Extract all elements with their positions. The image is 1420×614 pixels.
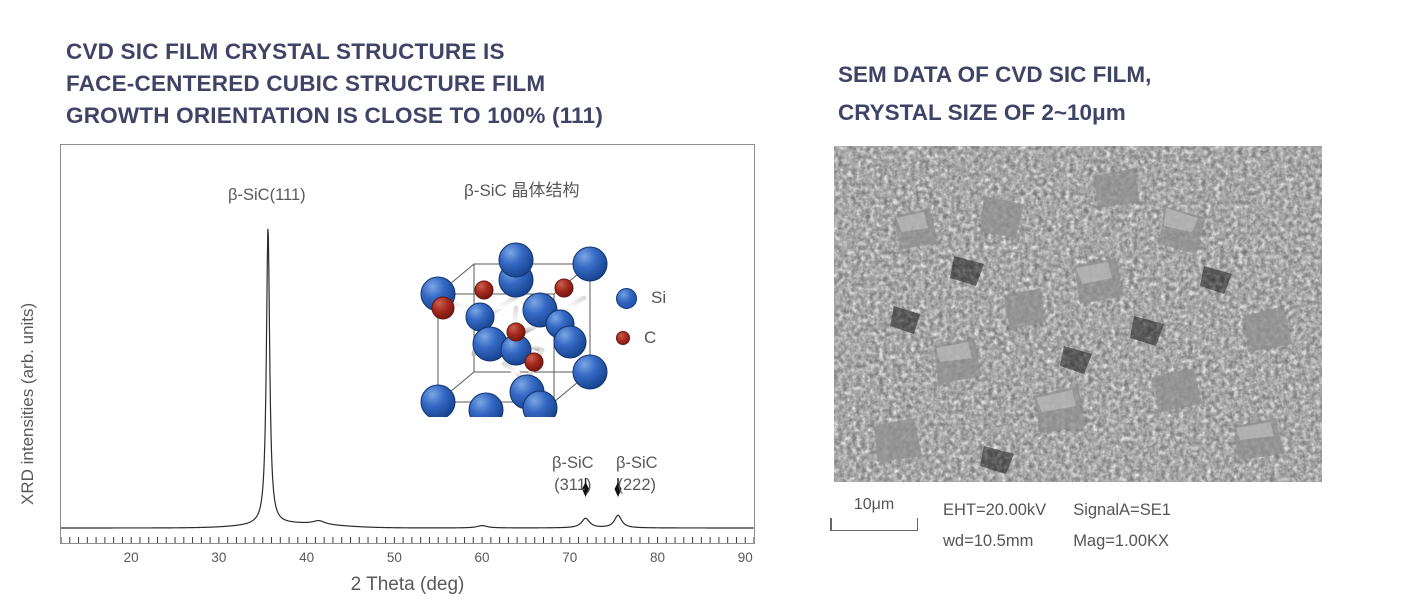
x-tick-label: 30 <box>211 550 226 565</box>
legend-label-si: Si <box>651 288 666 308</box>
legend-item-si: Si <box>616 278 666 318</box>
legend-label-c: C <box>644 328 656 348</box>
sem-scale-bar: 10μm <box>830 496 918 531</box>
peak-annotation-111: β-SiC(111) <box>228 186 306 205</box>
legend-item-c: C <box>616 318 666 358</box>
x-axis-ticks <box>61 537 754 543</box>
sem-eht: EHT=20.00kV <box>942 496 1070 525</box>
x-tick-label: 80 <box>650 550 665 565</box>
x-tick-label: 20 <box>124 550 139 565</box>
sem-metadata-table: EHT=20.00kV SignalA=SE1 wd=10.5mm Mag=1.… <box>940 494 1197 558</box>
y-axis-label: XRD intensities (arb. units) <box>18 477 38 505</box>
peak-annotation-222: β-SiC (222) <box>616 452 658 496</box>
x-tick-label: 50 <box>387 550 402 565</box>
si-sphere-icon <box>616 288 637 309</box>
table-row: EHT=20.00kV SignalA=SE1 <box>942 496 1195 525</box>
x-tick-label: 90 <box>738 550 753 565</box>
x-axis-label: 2 Theta (deg) <box>60 574 755 596</box>
sem-mag: Mag=1.00KX <box>1072 527 1195 556</box>
right-panel-title: SEM DATA OF CVD SIC FILM, CRYSTAL SIZE O… <box>838 56 1378 132</box>
x-tick-label: 40 <box>299 550 314 565</box>
crystal-legend: Si C <box>616 278 666 358</box>
sem-micrograph <box>834 146 1322 482</box>
crystal-structure-caption: β-SiC 晶体结构 <box>464 176 580 201</box>
c-sphere-icon <box>616 331 630 345</box>
left-panel-title: CVD SIC FILM CRYSTAL STRUCTURE IS FACE-C… <box>66 36 766 132</box>
sem-metadata: EHT=20.00kV SignalA=SE1 wd=10.5mm Mag=1.… <box>940 494 1197 558</box>
sem-micrograph-texture <box>834 146 1322 482</box>
peak-annotation-311: β-SiC (311) <box>552 452 594 496</box>
sem-scale-bar-line <box>830 518 918 531</box>
x-tick-label: 70 <box>562 550 577 565</box>
table-row: wd=10.5mm Mag=1.00KX <box>942 527 1195 556</box>
sem-wd: wd=10.5mm <box>942 527 1070 556</box>
xrd-panel: CVD SIC FILM CRYSTAL STRUCTURE IS FACE-C… <box>0 0 790 614</box>
sem-signal: SignalA=SE1 <box>1072 496 1195 525</box>
x-tick-label: 60 <box>475 550 490 565</box>
sem-scale-bar-label: 10μm <box>830 496 918 514</box>
crystal-structure-diagram <box>412 222 637 417</box>
